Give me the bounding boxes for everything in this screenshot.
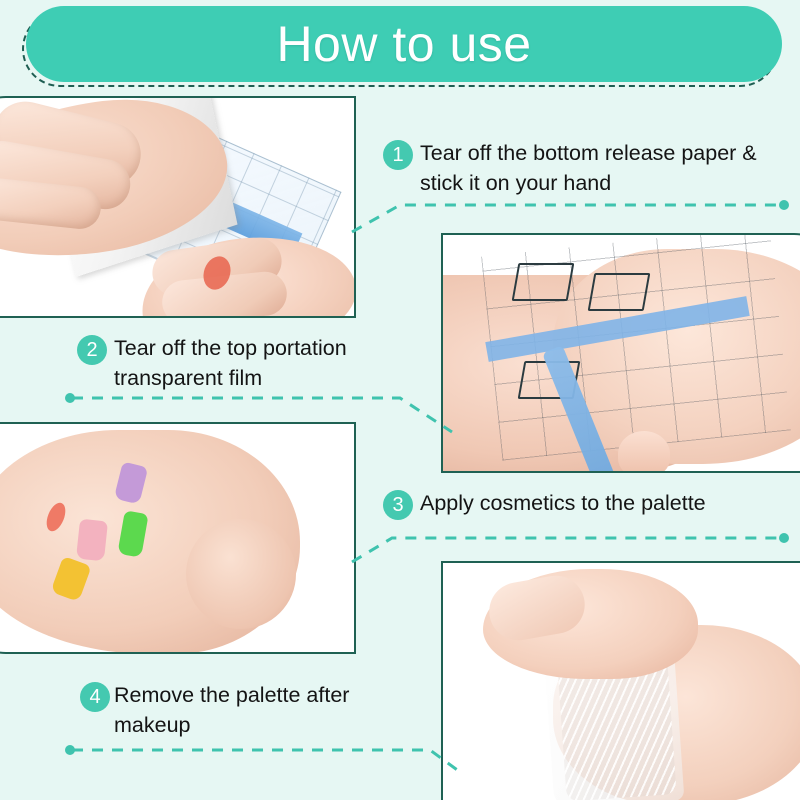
connector-dot-step-4: [65, 745, 75, 755]
step-4-photo-content: [443, 563, 800, 800]
step-1-photo: [0, 96, 356, 318]
header-banner: How to use: [22, 6, 778, 82]
step-1-number: 1: [383, 140, 413, 170]
step-3-photo-content: [0, 424, 354, 652]
banner-fill: How to use: [26, 6, 782, 82]
step-2-photo-content: [443, 235, 800, 471]
step-2-text: Tear off the top portation transparent f…: [114, 333, 414, 393]
step-2: 2 Tear off the top portation transparent…: [77, 333, 414, 393]
step-3-number: 3: [383, 490, 413, 520]
connector-step-3: [352, 538, 782, 562]
step-3-text: Apply cosmetics to the palette: [420, 488, 706, 518]
connector-dot-step-3: [779, 533, 789, 543]
connector-step-1: [352, 205, 782, 232]
connector-dot-step-1: [779, 200, 789, 210]
step-4-text: Remove the palette after makeup: [114, 680, 404, 740]
step-2-photo: [441, 233, 800, 473]
pulling-finger-graphic: [618, 431, 670, 473]
step-4: 4 Remove the palette after makeup: [80, 680, 404, 740]
knuckle-graphic: [186, 519, 296, 629]
swatch-pink: [76, 519, 108, 562]
film-symbol-graphic: [512, 263, 575, 301]
step-3: 3 Apply cosmetics to the palette: [383, 488, 706, 520]
film-symbol-graphic: [588, 273, 651, 311]
connector-dot-step-2: [65, 393, 75, 403]
step-1-photo-content: [0, 98, 354, 316]
step-4-number: 4: [80, 682, 110, 712]
how-to-use-infographic: How to use: [0, 0, 800, 800]
page-title: How to use: [276, 19, 531, 69]
step-3-photo: [0, 422, 356, 654]
step-1-text: Tear off the bottom release paper & stic…: [420, 138, 790, 198]
step-2-number: 2: [77, 335, 107, 365]
step-4-photo: [441, 561, 800, 800]
step-1: 1 Tear off the bottom release paper & st…: [383, 138, 790, 198]
connector-step-4: [72, 750, 460, 772]
